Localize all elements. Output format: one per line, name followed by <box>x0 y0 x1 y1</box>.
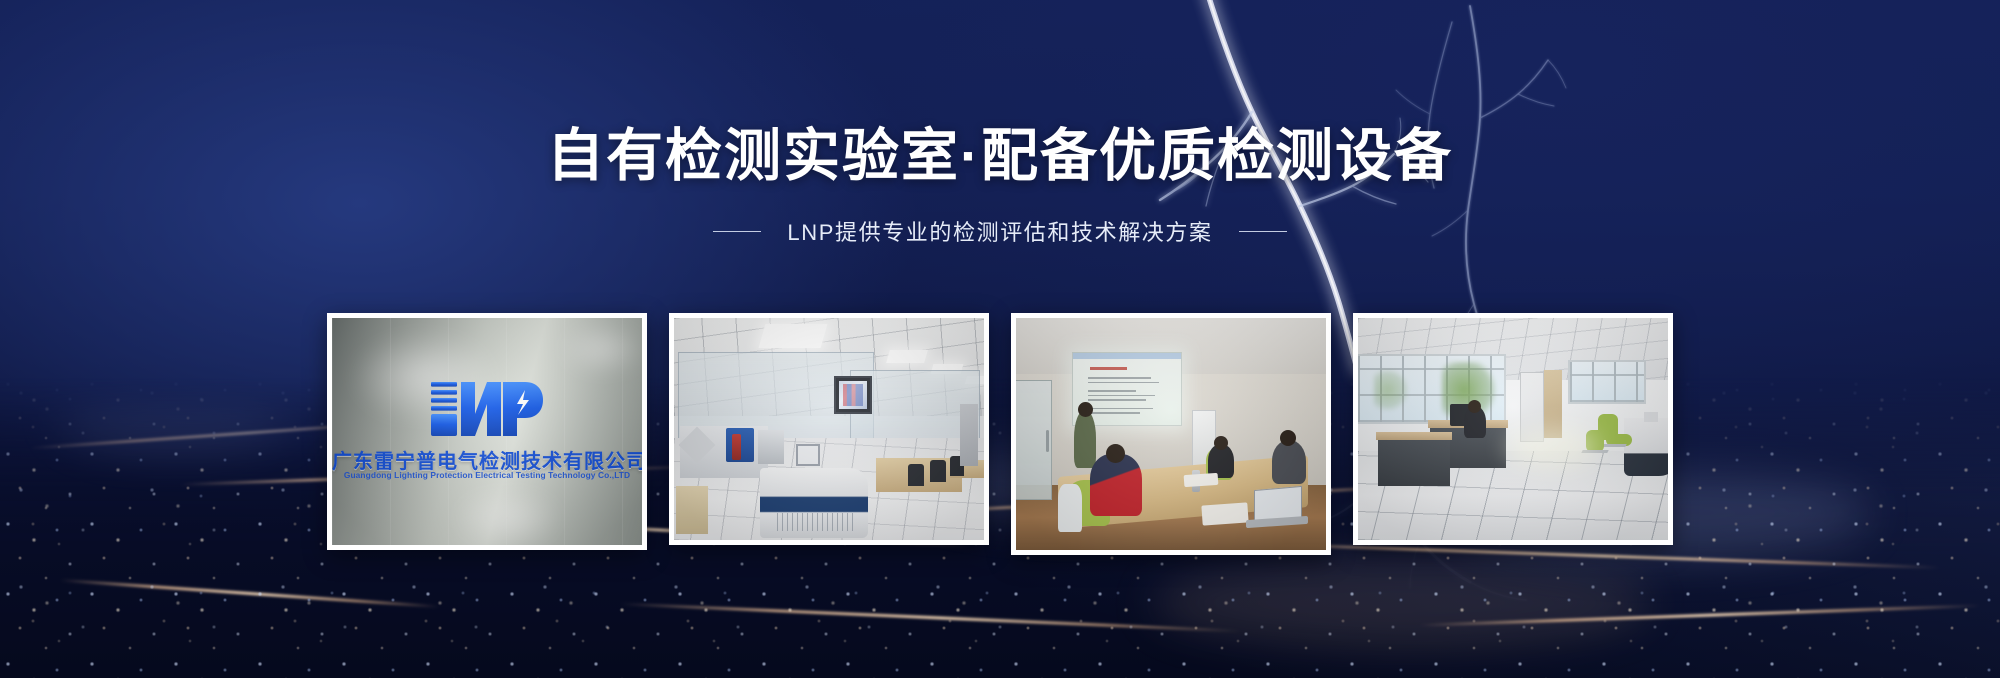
rule-left-icon <box>713 231 761 232</box>
person-head <box>1280 430 1296 446</box>
photo-gallery: 广东雷宁普电气检测技术有限公司 Guangdong Lighting Prote… <box>0 313 2000 555</box>
lab-column <box>960 404 978 466</box>
ceiling-panel-light <box>759 324 828 348</box>
photo-inner <box>674 318 984 540</box>
office-scene <box>1358 318 1668 540</box>
lab-sample-stand <box>676 486 708 534</box>
gallery-photo-testing-laboratory[interactable] <box>669 313 989 545</box>
photo-inner <box>1016 318 1326 550</box>
reception-counter <box>1624 418 1668 476</box>
slide-toolbar <box>1073 353 1181 359</box>
person-attendee-front <box>1090 454 1142 516</box>
wall-highlight <box>557 324 642 374</box>
page-title: 自有检测实验室·配备优质检测设备 <box>547 128 1453 185</box>
gallery-photo-office-area[interactable] <box>1353 313 1673 545</box>
slide-title-line <box>1090 367 1127 370</box>
slide-text-line <box>1088 390 1136 392</box>
slide-text-line <box>1088 382 1159 384</box>
floor-sunlight <box>1508 428 1598 468</box>
ceiling-panel-light <box>886 350 928 363</box>
lab-chair <box>930 460 946 482</box>
company-name-en: Guangdong Lighting Protection Electrical… <box>332 470 642 480</box>
wall-highlight <box>452 488 562 545</box>
window-mullions <box>1570 362 1644 402</box>
desk-top <box>1376 432 1452 440</box>
lab-scene <box>674 318 984 540</box>
table-papers <box>1184 473 1219 487</box>
console-monitor <box>796 444 820 466</box>
banner-subtitle-row: LNP提供专业的检测评估和技术解决方案 <box>713 215 1286 247</box>
hero-banner: 自有检测实验室·配备优质检测设备 LNP提供专业的检测评估和技术解决方案 <box>0 0 2000 678</box>
meeting-chair-white <box>1058 484 1082 532</box>
person-head <box>1078 402 1093 417</box>
lnp-logo-icon <box>429 374 545 445</box>
photo-inner: 广东雷宁普电气检测技术有限公司 Guangdong Lighting Prote… <box>332 318 642 545</box>
office-window <box>1568 360 1646 404</box>
person-attendee-right <box>1272 440 1306 484</box>
banner-subtitle: LNP提供专业的检测评估和技术解决方案 <box>787 215 1212 247</box>
gallery-photo-company-logo-wall[interactable]: 广东雷宁普电气检测技术有限公司 Guangdong Lighting Prote… <box>327 313 647 550</box>
console-vents <box>777 513 855 531</box>
slide-text-line <box>1088 399 1146 401</box>
slide-text-line <box>1088 395 1155 397</box>
lab-equipment-grey <box>758 430 784 464</box>
outdoor-greenery <box>1374 370 1408 410</box>
slide-text-line <box>1088 377 1151 379</box>
person-head <box>1106 444 1125 463</box>
door-handle <box>1046 430 1049 452</box>
rule-right-icon <box>1239 231 1287 232</box>
person-head <box>1468 400 1481 413</box>
gallery-photo-meeting-training-room[interactable] <box>1011 313 1331 555</box>
slide-text-line <box>1088 412 1140 414</box>
lab-chair <box>908 464 924 486</box>
monitor-screen <box>839 381 867 409</box>
meeting-room-scene <box>1016 318 1326 550</box>
counter-items <box>1644 412 1658 422</box>
person-head <box>1214 436 1228 450</box>
photo-inner <box>1358 318 1668 540</box>
lab-equipment-red <box>732 434 741 460</box>
slide-text-line <box>1088 408 1153 410</box>
table-papers <box>1201 502 1248 525</box>
wall-monitor <box>834 376 872 414</box>
office-desk <box>1378 436 1450 486</box>
lab-control-console <box>760 468 868 538</box>
person-presenter <box>1074 410 1096 468</box>
